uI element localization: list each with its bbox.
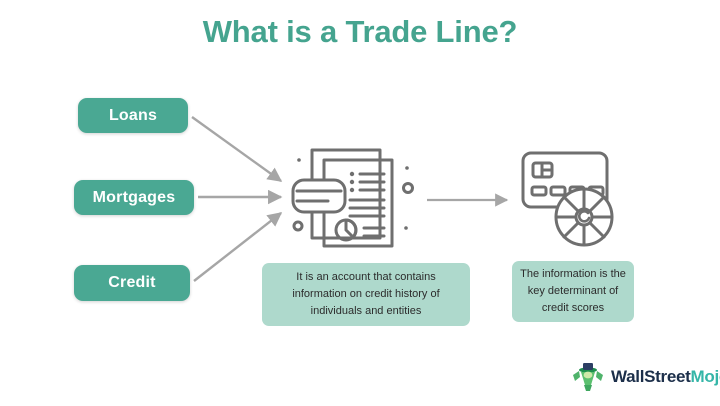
mascot-hat-top <box>583 363 593 370</box>
infographic-canvas: What is a Trade Line? Loans Mortgages Cr… <box>0 0 720 406</box>
source-pill-label: Loans <box>109 107 157 125</box>
mascot-face <box>584 372 593 379</box>
decor-dot <box>297 158 301 162</box>
bullet-dot <box>350 180 354 184</box>
caption-text: It is an account that contains informati… <box>270 269 462 320</box>
caption-text: The information is the key determinant o… <box>520 266 626 317</box>
source-pill-label: Credit <box>108 274 155 292</box>
record-card-shape <box>293 180 345 212</box>
brand-logo[interactable]: WallStreetMojo <box>571 361 720 393</box>
page-title: What is a Trade Line? <box>0 14 720 50</box>
trade-line-document-icon <box>288 138 418 253</box>
brand-name-accent: Mojo <box>691 367 720 386</box>
caption-box-center: It is an account that contains informati… <box>262 263 470 326</box>
mascot-arm-right <box>596 371 603 381</box>
brand-logo-text: WallStreetMojo <box>611 367 720 387</box>
bullet-dot <box>350 172 354 176</box>
credit-card-score-gauge-icon <box>518 147 623 252</box>
decor-ring <box>294 222 302 230</box>
brand-name-primary: WallStreet <box>611 367 691 386</box>
decor-dot <box>405 166 409 170</box>
decor-ring <box>404 184 413 193</box>
pie-chart-slice <box>346 220 356 237</box>
decor-dot <box>404 226 408 230</box>
wallstreetmojo-mascot-icon <box>571 361 605 393</box>
source-pill-loans[interactable]: Loans <box>78 98 188 133</box>
arrow-loans-to-center <box>192 117 281 181</box>
source-pill-mortgages[interactable]: Mortgages <box>74 180 194 215</box>
bullet-dot <box>350 188 354 192</box>
mascot-base <box>584 385 592 391</box>
source-pill-credit[interactable]: Credit <box>74 265 190 301</box>
caption-box-right: The information is the key determinant o… <box>512 261 634 322</box>
source-pill-label: Mortgages <box>93 189 176 207</box>
mascot-arm-left <box>573 371 580 381</box>
